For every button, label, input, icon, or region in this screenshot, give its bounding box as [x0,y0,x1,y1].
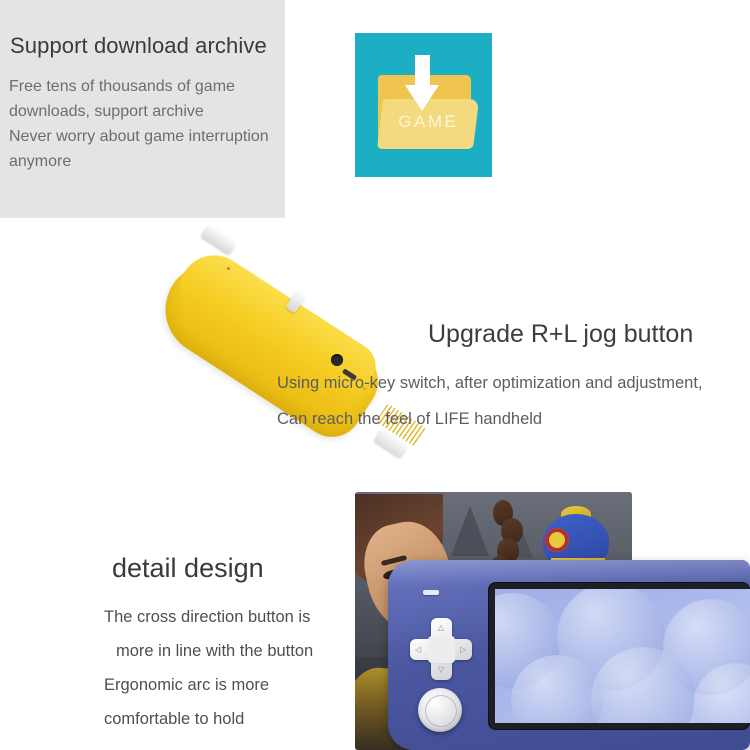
detail-body-line-1: The cross direction button is [104,600,354,634]
dpad-right-arrow-icon: ▷ [460,646,466,654]
download-arrow-icon [405,55,439,111]
yellow-console-photo [180,228,440,478]
folder-label: GAME [380,112,476,132]
headphone-jack-port [331,354,343,366]
screw-dot-left [227,267,230,270]
detail-body-line-2: more in line with the button [104,634,354,668]
detail-body-line-3: Ergonomic arc is more [104,668,354,702]
section-upgrade-jog-title: Upgrade R+L jog button [428,320,693,349]
left-shoulder-button [201,224,238,255]
artwork-spike-1 [451,506,489,556]
upgrade-body-line-1: Using micro-key switch, after optimizati… [277,374,703,393]
upgrade-body-line-2: Can reach the feel of LIFE handheld [277,410,542,429]
analog-stick [418,688,462,732]
dpad-up-arrow-icon: △ [438,624,444,632]
dpad-center [428,636,455,663]
support-body-line-2: downloads, support archive [9,99,299,124]
support-body-line-4: anymore [9,149,299,174]
section-detail-design-title: detail design [112,553,264,584]
dpad-left-arrow-icon: ◁ [415,646,421,654]
support-body-line-3: Never worry about game interruption [9,124,299,149]
console-screen-bezel [488,582,750,730]
console-speaker-slot [423,590,439,595]
artwork-helmet-emblem [545,528,569,552]
product-detail-page: Support download archive Free tens of th… [0,0,750,750]
detail-body-line-4: comfortable to hold [104,702,354,736]
dpad-control: △ ▽ ◁ ▷ [410,618,472,680]
section-support-download-body: Free tens of thousands of game downloads… [9,74,299,174]
arrow-stem [415,55,430,88]
dpad-down-arrow-icon: ▽ [438,666,444,674]
console-screen [495,589,750,723]
support-body-line-1: Free tens of thousands of game [9,74,299,99]
blue-console-image: △ ▽ ◁ ▷ [388,560,750,750]
section-detail-design-body: The cross direction button is more in li… [104,600,354,736]
game-download-icon: GAME [355,33,492,177]
section-support-download-title: Support download archive [10,33,267,59]
arrow-head [405,85,439,111]
